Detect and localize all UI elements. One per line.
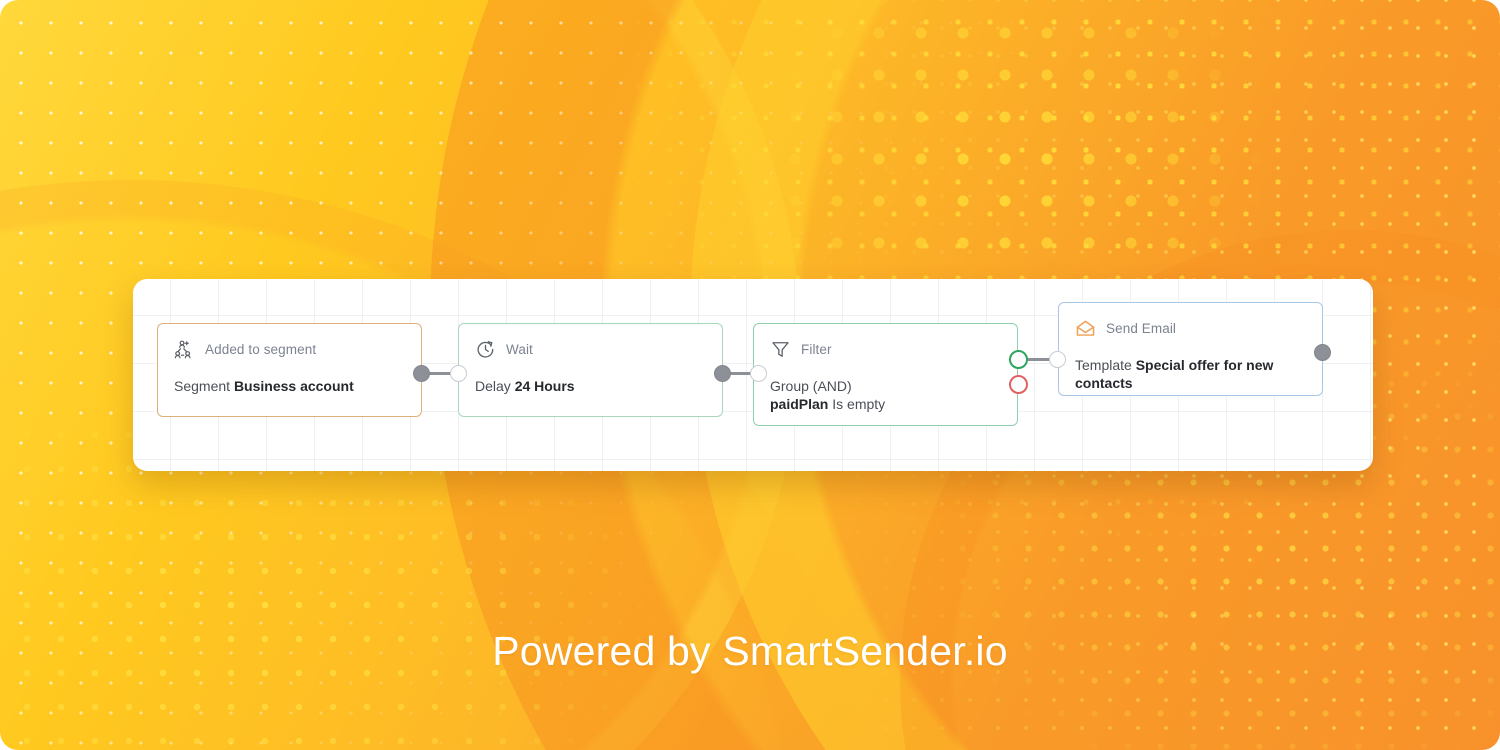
- filter-condition: paidPlan Is empty: [770, 395, 1001, 413]
- filter-condition-operator: Is empty: [832, 396, 885, 412]
- node-body: Group (AND) paidPlan Is empty: [770, 377, 1001, 413]
- node-body-label: Template: [1075, 357, 1132, 373]
- node-body-label: Segment: [174, 378, 230, 394]
- funnel-icon: [770, 339, 791, 360]
- node-send-email[interactable]: Send Email Template Special offer for ne…: [1058, 302, 1323, 396]
- node-body: Template Special offer for new contacts: [1075, 356, 1306, 392]
- node-filter[interactable]: Filter Group (AND) paidPlan Is empty: [753, 323, 1018, 426]
- envelope-icon: [1075, 318, 1096, 339]
- node-body-value: 24 Hours: [515, 378, 575, 394]
- node-title: Wait: [506, 342, 533, 357]
- node-input-port-email[interactable]: [1049, 351, 1066, 368]
- node-input-port-filter[interactable]: [750, 365, 767, 382]
- node-body: Segment Business account: [174, 377, 405, 395]
- node-header: Wait: [475, 338, 706, 360]
- workflow-flow: Added to segment Segment Business accoun…: [133, 279, 1373, 471]
- node-added-to-segment[interactable]: Added to segment Segment Business accoun…: [157, 323, 422, 417]
- node-wait[interactable]: Wait Delay 24 Hours: [458, 323, 723, 417]
- node-body-label: Delay: [475, 378, 511, 394]
- node-body-value: Business account: [234, 378, 354, 394]
- node-output-port-filter-true[interactable]: [1009, 350, 1028, 369]
- filter-group-label: Group (AND): [770, 377, 1001, 395]
- node-header: Filter: [770, 338, 1001, 360]
- node-title: Send Email: [1106, 321, 1176, 336]
- node-output-port-wait[interactable]: [714, 365, 731, 382]
- node-output-port-trigger[interactable]: [413, 365, 430, 382]
- node-output-port-email[interactable]: [1314, 344, 1331, 361]
- clock-icon: [475, 339, 496, 360]
- node-header: Added to segment: [174, 338, 405, 360]
- node-title: Filter: [801, 342, 832, 357]
- filter-condition-field: paidPlan: [770, 396, 828, 412]
- footer-wordmark: Powered by SmartSender.io: [0, 628, 1500, 675]
- node-body: Delay 24 Hours: [475, 377, 706, 395]
- node-output-port-filter-false[interactable]: [1009, 375, 1028, 394]
- promo-banner: Added to segment Segment Business accoun…: [0, 0, 1500, 750]
- workflow-canvas[interactable]: Added to segment Segment Business accoun…: [133, 279, 1373, 471]
- add-to-segment-icon: [174, 339, 195, 360]
- node-header: Send Email: [1075, 317, 1306, 339]
- node-title: Added to segment: [205, 342, 316, 357]
- node-input-port-wait[interactable]: [450, 365, 467, 382]
